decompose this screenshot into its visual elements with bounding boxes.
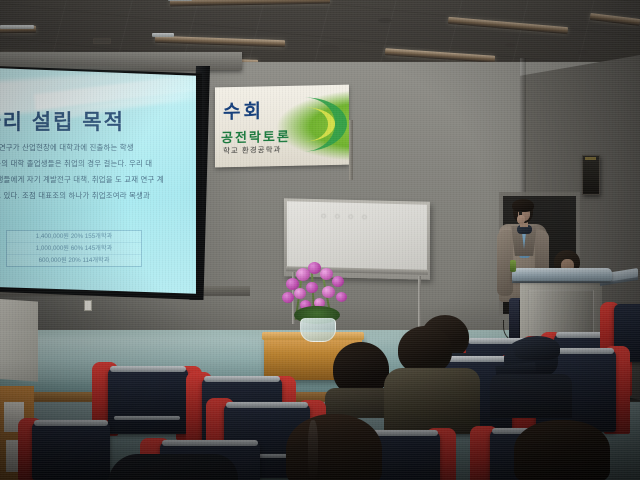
slide-body-line: 및 교 전공 연구가 산업현장에 대학과에 진출하는 학생 (0, 142, 196, 153)
speaker-badge-icon (585, 157, 596, 160)
seat-top-rail (204, 376, 280, 382)
audience-hair (286, 414, 382, 480)
orchid-flower (308, 262, 321, 274)
audience-member (333, 342, 389, 408)
audience-head (398, 326, 452, 374)
orchid-plant (278, 262, 354, 340)
side-table (0, 298, 38, 381)
audience-member-foreground (514, 420, 610, 480)
orchid-flower (306, 282, 318, 293)
orchid-flower (282, 292, 294, 303)
ceiling-vent (93, 38, 111, 44)
orchid-flower (294, 288, 306, 299)
slide-table: 1,400,000원 20% 155개학과 1,000,000원 60% 145… (6, 230, 142, 267)
banner-title: 수회 (223, 96, 264, 124)
slide-title: 동아리 설립 목적 (0, 106, 196, 136)
ceiling-speaker (378, 18, 392, 23)
slide-body-line: 로 운영하고 있다. 조점 대표조의 하나가 취업조여라 목생과 (0, 190, 196, 201)
presenter-hair (512, 199, 534, 212)
fluorescent-light-fixture (152, 33, 174, 37)
audience-seat (18, 418, 114, 480)
banner-department: 학교 환경공학과 (223, 144, 281, 156)
orchid-flower (320, 268, 333, 280)
ceiling-speaker (578, 50, 588, 55)
seat-hinge (114, 416, 180, 420)
whiteboard-writing: ㅇ ㅇ ㅇ ㅇ (320, 211, 406, 225)
audience-hair (514, 420, 610, 480)
hair-highlight (308, 420, 318, 480)
audience-member-foreground (108, 454, 238, 480)
podium-top (512, 268, 612, 281)
orchid-vase (300, 318, 336, 342)
seat-top-rail (226, 402, 308, 408)
wall-outlet (84, 300, 92, 311)
photo-scene: 동아리 설립 목적 및 교 전공 연구가 산업현장에 대학과에 진출하는 학생 … (0, 0, 640, 480)
slide-table-row: 1,000,000원 60% 145개학과 (7, 243, 141, 255)
slide-body-line: 행 및 졸업생들에게 자기 계발전구 대책, 취업을 도 교재 연구 계 (0, 174, 196, 185)
seat-top-rail (110, 366, 186, 372)
ceiling-speaker (318, 45, 340, 53)
audience-member-foreground (286, 414, 382, 480)
orchid-flower (332, 276, 344, 287)
slide-body-line: 교는 대부분의 대학 졸업생들은 취업의 경우 걸는다. 우리 대 (0, 158, 196, 169)
orchid-flower (322, 286, 335, 298)
audience-shoulders (490, 374, 572, 418)
projection-screen: 동아리 설립 목적 및 교 전공 연구가 산업현장에 대학과에 진출하는 학생 … (0, 68, 196, 296)
presenter-hand (517, 215, 525, 224)
slide-table-row: 1,400,000원 20% 155개학과 (7, 231, 141, 243)
fluorescent-light-fixture (0, 25, 34, 29)
orchid-flower (336, 292, 347, 302)
event-banner: 수회 공전락토론 학교 환경공학과 (215, 85, 349, 168)
seat-back (32, 422, 110, 480)
seat-top-rail (34, 420, 108, 426)
banner-pole (349, 120, 353, 180)
ceiling-speaker (505, 43, 515, 47)
slide-table-row: 600,000원 20% 114개학과 (7, 255, 141, 266)
seat-top-rail (162, 440, 258, 446)
fluorescent-light-fixture (168, 0, 192, 1)
wall-speaker (582, 155, 600, 195)
baseball-cap (514, 336, 560, 360)
seat-back (108, 368, 188, 434)
water-bottle (510, 260, 516, 272)
audience-coat (384, 368, 480, 434)
